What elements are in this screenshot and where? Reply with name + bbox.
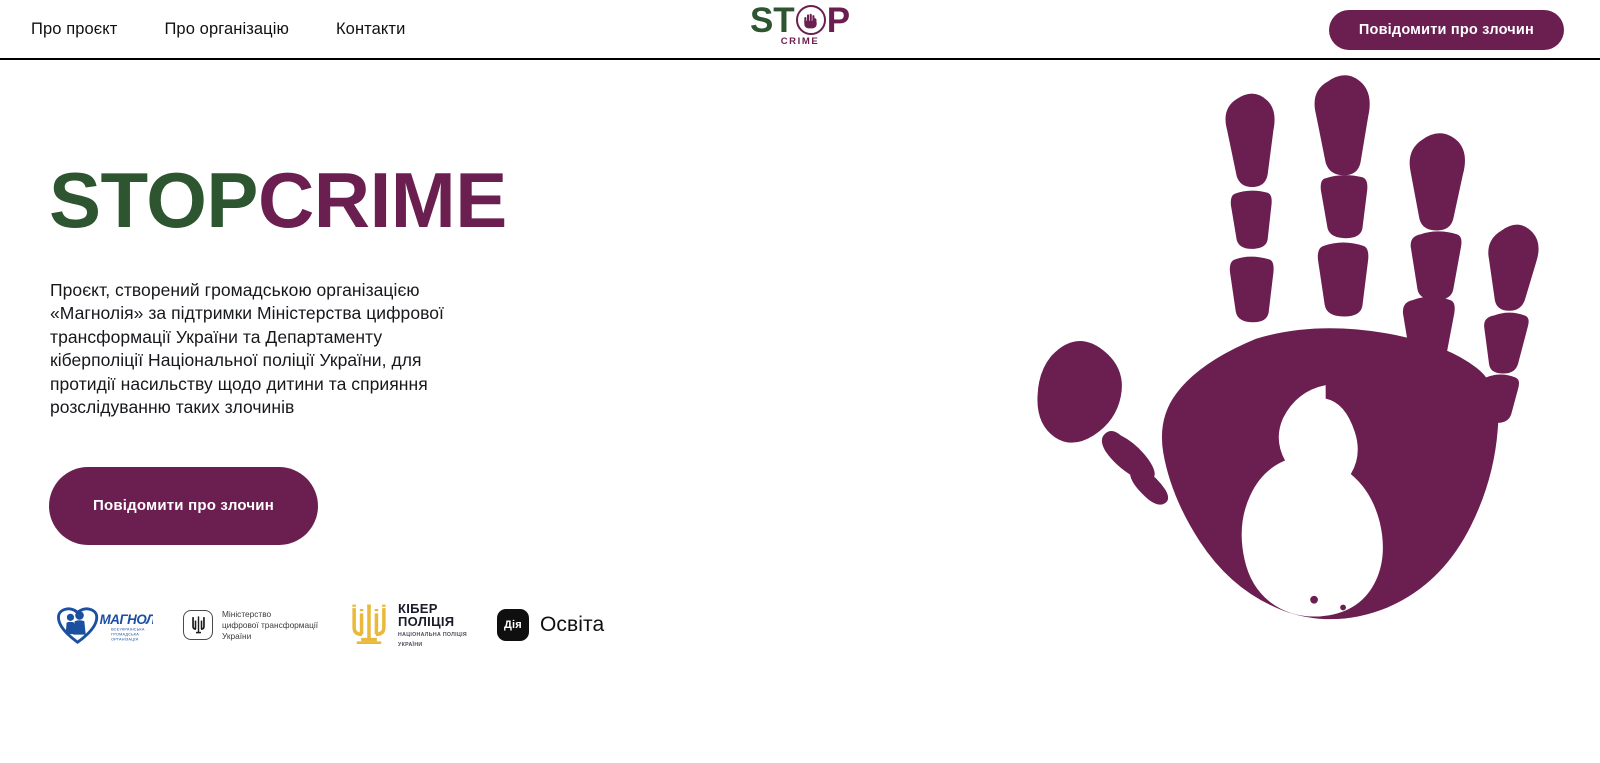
page-title: STOPCRIME xyxy=(49,160,669,242)
cyber-police-name: КІБЕР ПОЛІЦІЯ НАЦІОНАЛЬНА ПОЛІЦІЯ УКРАЇН… xyxy=(398,602,467,649)
hero-report-crime-button[interactable]: Повідомити про злочин xyxy=(49,467,318,545)
cyber-title-line-1: КІБЕР xyxy=(398,602,467,616)
hero-section: STOPCRIME Проєкт, створений громадською … xyxy=(0,60,1600,763)
partner-logos: МАГНОЛІЯ ВСЕУКРАЇНСЬКА ГРОМАДСЬКА ОРГАНІ… xyxy=(51,601,669,650)
ministry-line-1: Міністерство xyxy=(222,609,318,620)
partner-diia-osvita[interactable]: Дія Освіта xyxy=(497,609,604,641)
svg-text:ГРОМАДСЬКА: ГРОМАДСЬКА xyxy=(111,633,139,637)
cyber-subtitle-line-2: УКРАЇНИ xyxy=(398,642,467,649)
hero-description: Проєкт, створений громадською організаці… xyxy=(50,279,470,420)
page-title-stop: STOP xyxy=(49,156,258,244)
site-header: Про проєкт Про організацію Контакти ST xyxy=(0,0,1600,60)
cyber-title-line-2: ПОЛІЦІЯ xyxy=(398,615,467,629)
nav-contacts[interactable]: Контакти xyxy=(336,20,405,39)
cyber-trident-icon xyxy=(348,601,390,650)
partner-ministry-of-digital-transformation[interactable]: Міністерство цифрової трансформації Укра… xyxy=(183,609,318,642)
partner-magnolia[interactable]: МАГНОЛІЯ ВСЕУКРАЇНСЬКА ГРОМАДСЬКА ОРГАНІ… xyxy=(51,603,153,647)
logo-text-st: ST xyxy=(750,3,795,38)
nav-about-project[interactable]: Про проєкт xyxy=(31,20,117,39)
svg-text:ОРГАНІЗАЦІЯ: ОРГАНІЗАЦІЯ xyxy=(111,638,138,642)
handprint-illustration xyxy=(1002,70,1572,650)
cyber-subtitle-line-1: НАЦІОНАЛЬНА ПОЛІЦІЯ xyxy=(398,632,467,639)
hand-stop-icon xyxy=(796,5,826,35)
svg-text:МАГНОЛІЯ: МАГНОЛІЯ xyxy=(100,612,153,627)
nav-about-organization[interactable]: Про організацію xyxy=(164,20,289,39)
logo-text-p: P xyxy=(827,3,850,38)
logo-wordmark: ST P xyxy=(750,1,850,39)
header-report-crime-button[interactable]: Повідомити про злочин xyxy=(1329,10,1564,50)
hero-content: STOPCRIME Проєкт, створений громадською … xyxy=(49,160,669,650)
ministry-name: Міністерство цифрової трансформації Укра… xyxy=(222,609,318,642)
partner-cyber-police[interactable]: КІБЕР ПОЛІЦІЯ НАЦІОНАЛЬНА ПОЛІЦІЯ УКРАЇН… xyxy=(348,601,467,650)
ukraine-trident-icon xyxy=(183,610,213,640)
diia-badge: Дія xyxy=(497,609,529,641)
ministry-line-3: України xyxy=(222,631,318,642)
page-title-crime: CRIME xyxy=(258,156,507,244)
svg-text:ВСЕУКРАЇНСЬКА: ВСЕУКРАЇНСЬКА xyxy=(111,628,145,632)
site-logo[interactable]: ST P CRIME xyxy=(735,1,865,47)
diia-label: Освіта xyxy=(540,613,604,637)
main-navigation: Про проєкт Про організацію Контакти xyxy=(31,20,405,39)
logo-tagline: CRIME xyxy=(781,36,820,47)
ministry-line-2: цифрової трансформації xyxy=(222,620,318,631)
